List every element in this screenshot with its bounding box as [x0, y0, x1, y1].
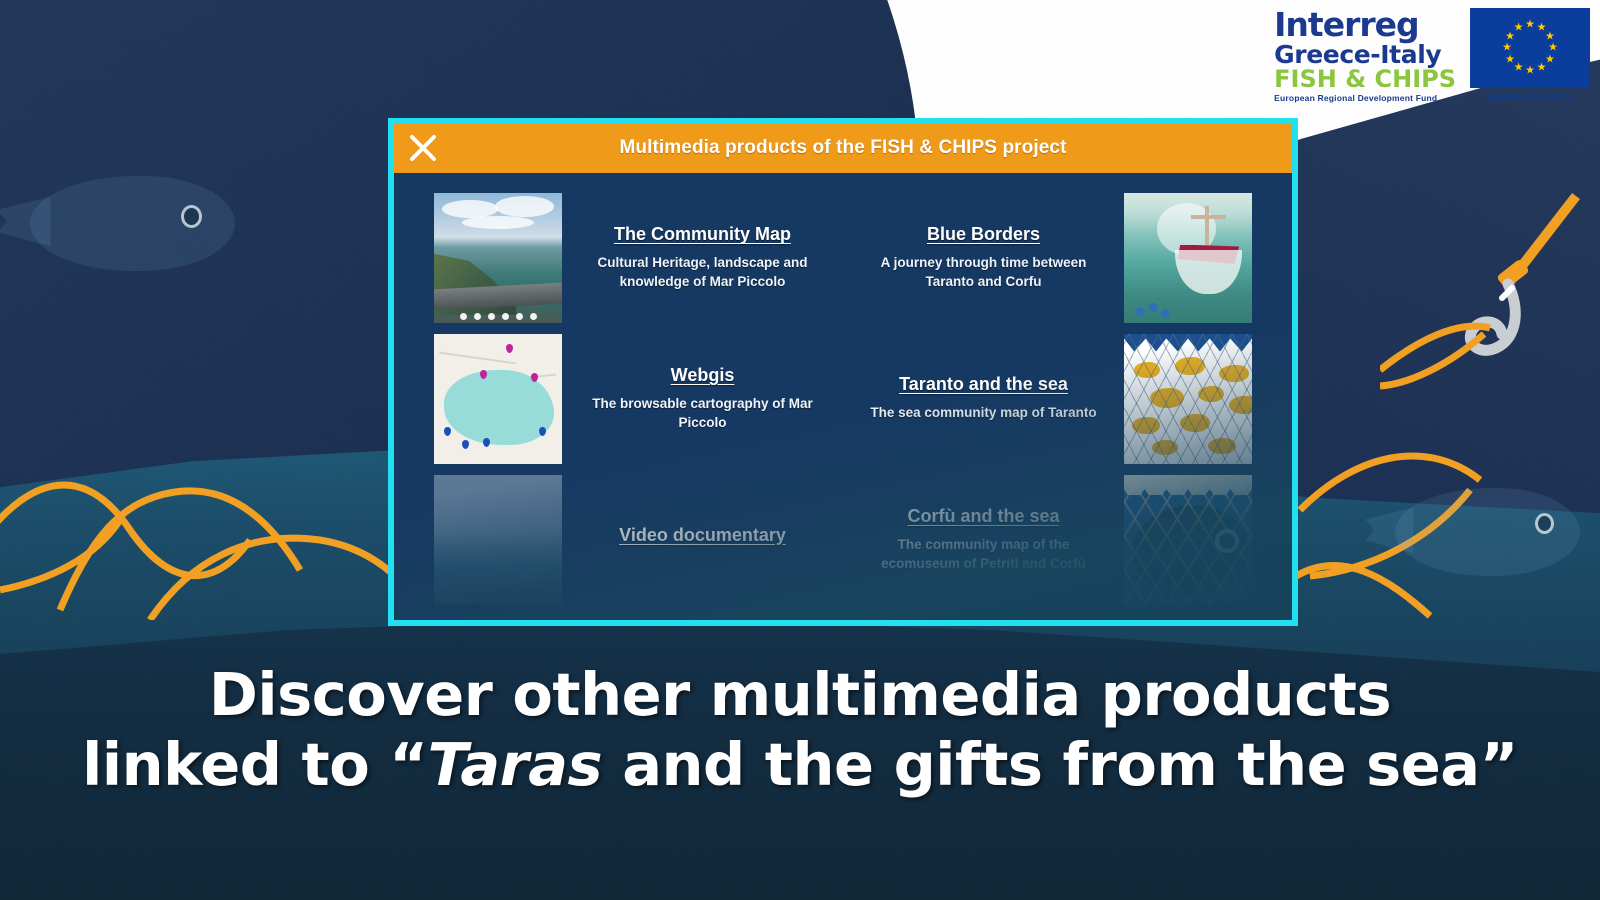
- logo-interreg-text: Interreg: [1274, 8, 1456, 42]
- product-row: The Community Map Cultural Heritage, lan…: [394, 187, 1292, 328]
- multimedia-products-modal[interactable]: Multimedia products of the FISH & CHIPS …: [388, 118, 1298, 626]
- slide-caption: Discover other multimedia products linke…: [0, 660, 1600, 799]
- product-description: A journey through time between Taranto a…: [859, 254, 1108, 290]
- close-icon[interactable]: [402, 127, 444, 169]
- caption-line2-pre: linked to “: [82, 730, 427, 799]
- eu-emblem-block: ★★★★★★★★★★★★ EUROPEAN UNION: [1470, 8, 1590, 101]
- eu-flag-icon: ★★★★★★★★★★★★: [1470, 8, 1590, 88]
- product-link[interactable]: Webgis: [671, 365, 735, 386]
- logo-fund-text: European Regional Development Fund: [1274, 94, 1456, 103]
- thumbnail-the-community-map[interactable]: [434, 193, 562, 323]
- background-fish-silhouette: [30, 176, 235, 271]
- caption-line-2: linked to “Taras and the gifts from the …: [0, 730, 1600, 800]
- eu-star-icon: ★: [1525, 66, 1535, 77]
- thumbnail-corfu-and-the-sea[interactable]: [1124, 475, 1252, 605]
- eu-star-icon: ★: [1502, 43, 1512, 54]
- eu-star-icon: ★: [1545, 31, 1555, 42]
- eu-star-icon: ★: [1548, 43, 1558, 54]
- caption-line-1: Discover other multimedia products: [0, 660, 1600, 730]
- product-description: The browsable cartography of Mar Piccolo: [578, 395, 827, 431]
- product-link[interactable]: The Community Map: [614, 224, 791, 245]
- background-fish-silhouette: [1395, 488, 1580, 576]
- logo-project-text: FISH & CHIPS: [1274, 67, 1456, 91]
- product-description: The sea community map of Taranto: [859, 404, 1108, 422]
- fishing-hook-icon: [1380, 188, 1580, 398]
- product-row: Video documentary Corfù and the sea The …: [394, 469, 1292, 610]
- thumbnail-taranto-and-the-sea[interactable]: [1124, 334, 1252, 464]
- modal-body: The Community Map Cultural Heritage, lan…: [394, 173, 1292, 619]
- product-row: Webgis The browsable cartography of Mar …: [394, 328, 1292, 469]
- modal-header-bar: Multimedia products of the FISH & CHIPS …: [394, 123, 1292, 173]
- logo-programme-text: Greece-Italy: [1274, 42, 1456, 68]
- eu-star-icon: ★: [1537, 62, 1547, 73]
- slide-canvas: Interreg Greece-Italy FISH & CHIPS Europ…: [0, 0, 1600, 900]
- caption-line2-post: and the gifts from the sea”: [602, 730, 1518, 799]
- modal-title: Multimedia products of the FISH & CHIPS …: [619, 137, 1066, 159]
- thumbnail-webgis[interactable]: [434, 334, 562, 464]
- eu-star-icon: ★: [1525, 20, 1535, 31]
- caption-emphasis: Taras: [428, 730, 603, 799]
- product-description: Cultural Heritage, landscape and knowled…: [578, 254, 827, 290]
- thumbnail-blue-borders[interactable]: [1124, 193, 1252, 323]
- product-link[interactable]: Blue Borders: [927, 224, 1040, 245]
- product-link[interactable]: Corfù and the sea: [907, 506, 1059, 527]
- interreg-wordmark: Interreg Greece-Italy FISH & CHIPS Europ…: [1274, 8, 1456, 102]
- product-video-documentary: Video documentary: [562, 525, 843, 555]
- eu-star-icon: ★: [1514, 23, 1524, 34]
- product-link[interactable]: Video documentary: [619, 525, 786, 546]
- thumbnail-video-documentary[interactable]: [434, 475, 562, 605]
- product-the-community-map: The Community Map Cultural Heritage, lan…: [562, 224, 843, 290]
- product-blue-borders: Blue Borders A journey through time betw…: [843, 224, 1124, 290]
- product-webgis: Webgis The browsable cartography of Mar …: [562, 365, 843, 431]
- eu-star-icon: ★: [1505, 54, 1515, 65]
- eu-label-text: EUROPEAN UNION: [1470, 91, 1590, 101]
- product-description: The community map of the ecomuseum of Pe…: [859, 536, 1108, 572]
- product-link[interactable]: Taranto and the sea: [899, 374, 1068, 395]
- product-corfu-and-the-sea: Corfù and the sea The community map of t…: [843, 506, 1124, 572]
- interreg-logo-block: Interreg Greece-Italy FISH & CHIPS Europ…: [1274, 8, 1590, 102]
- product-taranto-and-the-sea: Taranto and the sea The sea community ma…: [843, 374, 1124, 422]
